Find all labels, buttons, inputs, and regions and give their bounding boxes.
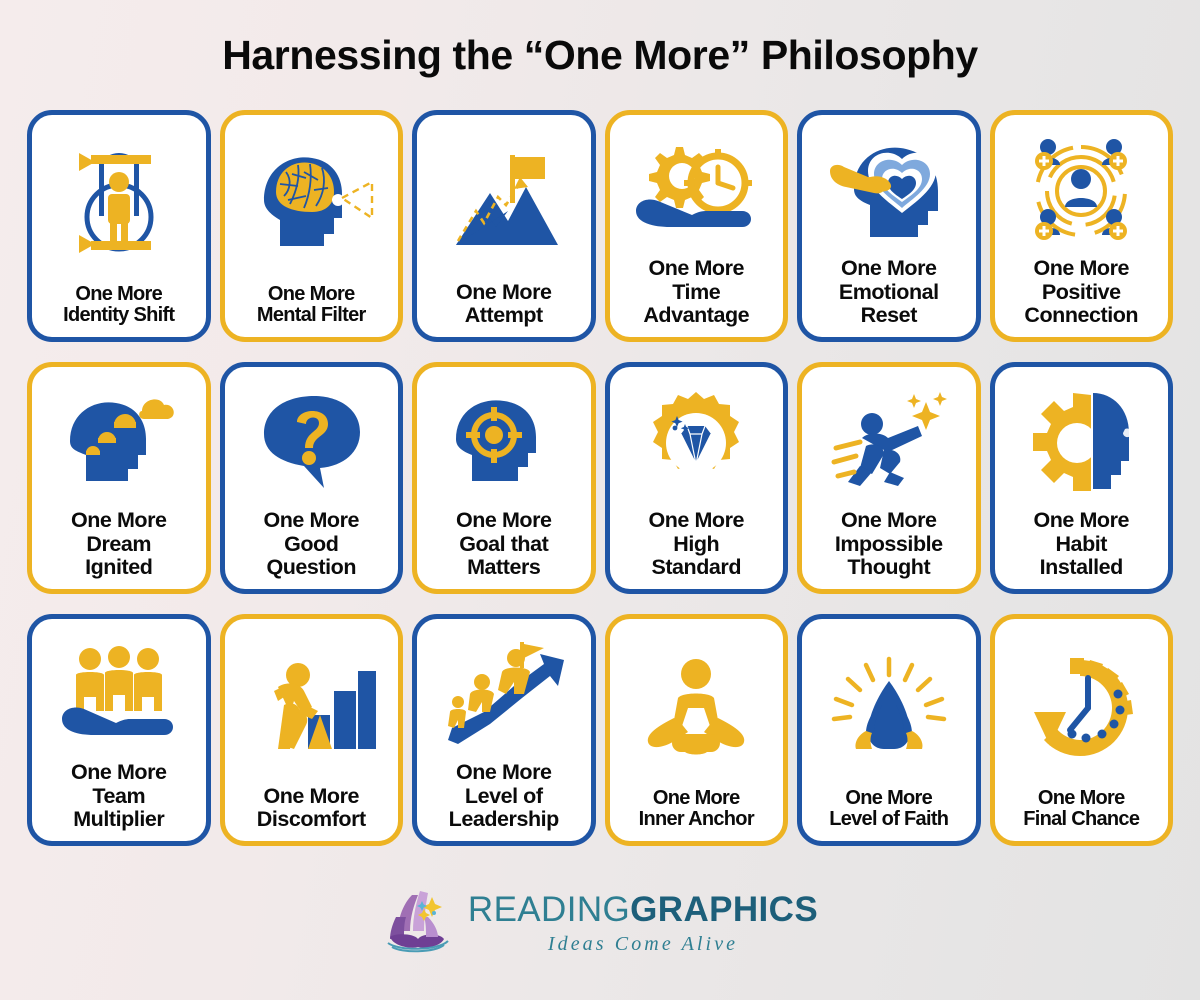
logo-tagline: Ideas Come Alive bbox=[468, 934, 818, 954]
card-attempt[interactable]: One More Attempt bbox=[412, 110, 596, 342]
diamond-badge-icon bbox=[616, 377, 778, 509]
card-label: One More Positive Connection bbox=[1024, 257, 1138, 329]
card-label: One More Dream Ignited bbox=[71, 509, 167, 581]
card-team-multiplier[interactable]: One More Team Multiplier bbox=[27, 614, 211, 846]
logo-word-reading: READING bbox=[468, 890, 630, 929]
card-label: One More Team Multiplier bbox=[71, 761, 167, 833]
card-label: One More Level of Faith bbox=[829, 788, 948, 833]
head-thought-clouds-icon bbox=[38, 377, 200, 509]
logo-text: READINGGRAPHICS Ideas Come Alive bbox=[468, 892, 818, 954]
card-habit-installed[interactable]: One More Habit Installed bbox=[990, 362, 1174, 594]
card-label: One More Time Advantage bbox=[643, 257, 749, 329]
card-label: One More Identity Shift bbox=[63, 284, 174, 329]
card-label: One More Final Chance bbox=[1023, 788, 1139, 833]
card-identity-shift[interactable]: One More Identity Shift bbox=[27, 110, 211, 342]
card-level-of-faith[interactable]: One More Level of Faith bbox=[797, 614, 981, 846]
speech-bubble-question-icon bbox=[231, 377, 393, 509]
card-impossible-thought[interactable]: One More Impossible Thought bbox=[797, 362, 981, 594]
head-target-icon bbox=[423, 377, 585, 509]
card-label: One More Mental Filter bbox=[257, 284, 366, 329]
brain-head-projection-icon bbox=[231, 125, 393, 284]
praying-hands-icon bbox=[808, 629, 970, 788]
book-sparkle-logo-icon bbox=[382, 887, 454, 960]
title-bar: Harnessing the “One More” Philosophy bbox=[0, 0, 1200, 110]
running-star-icon bbox=[808, 377, 970, 509]
readingraphics-logo[interactable]: READINGGRAPHICS Ideas Come Alive bbox=[382, 887, 818, 960]
card-discomfort[interactable]: One More Discomfort bbox=[220, 614, 404, 846]
card-high-standard[interactable]: One More High Standard bbox=[605, 362, 789, 594]
card-label: One More Habit Installed bbox=[1033, 509, 1129, 581]
climbing-arrow-icon bbox=[423, 629, 585, 761]
card-good-question[interactable]: One More Good Question bbox=[220, 362, 404, 594]
card-label: One More Good Question bbox=[263, 509, 359, 581]
page-title: Harnessing the “One More” Philosophy bbox=[222, 32, 978, 79]
card-label: One More Goal that Matters bbox=[456, 509, 552, 581]
card-dream-ignited[interactable]: One More Dream Ignited bbox=[27, 362, 211, 594]
card-label: One More Inner Anchor bbox=[639, 788, 754, 833]
card-inner-anchor[interactable]: One More Inner Anchor bbox=[605, 614, 789, 846]
mountain-flag-icon bbox=[423, 125, 585, 281]
gear-head-icon bbox=[1001, 377, 1163, 509]
hand-team-icon bbox=[38, 629, 200, 761]
card-label: One More Discomfort bbox=[257, 785, 366, 833]
meditation-icon bbox=[616, 629, 778, 788]
card-time-advantage[interactable]: One More Time Advantage bbox=[605, 110, 789, 342]
card-mental-filter[interactable]: One More Mental Filter bbox=[220, 110, 404, 342]
card-label: One More High Standard bbox=[648, 509, 744, 581]
card-positive-connection[interactable]: One More Positive Connection bbox=[990, 110, 1174, 342]
person-in-hourglass-icon bbox=[38, 125, 200, 284]
clock-arrow-icon bbox=[1001, 629, 1163, 788]
card-label: One More Level of Leadership bbox=[449, 761, 559, 833]
hand-gear-clock-icon bbox=[616, 125, 778, 257]
card-level-of-leadership[interactable]: One More Level of Leadership bbox=[412, 614, 596, 846]
worker-bar-chart-icon bbox=[231, 629, 393, 785]
card-goal-that-matters[interactable]: One More Goal that Matters bbox=[412, 362, 596, 594]
infographic-page: Harnessing the “One More” Philosophy bbox=[0, 0, 1200, 1000]
card-grid: One More Identity Shift bbox=[27, 110, 1173, 846]
hand-heart-head-icon bbox=[808, 125, 970, 257]
card-label: One More Impossible Thought bbox=[835, 509, 943, 581]
footer: READINGGRAPHICS Ideas Come Alive bbox=[0, 846, 1200, 1000]
card-label: One More Emotional Reset bbox=[839, 257, 939, 329]
network-people-icon bbox=[1001, 125, 1163, 257]
logo-word-graphics: GRAPHICS bbox=[630, 890, 818, 929]
card-final-chance[interactable]: One More Final Chance bbox=[990, 614, 1174, 846]
logo-wordmark: READINGGRAPHICS bbox=[468, 892, 818, 927]
card-emotional-reset[interactable]: One More Emotional Reset bbox=[797, 110, 981, 342]
card-label: One More Attempt bbox=[456, 281, 552, 329]
